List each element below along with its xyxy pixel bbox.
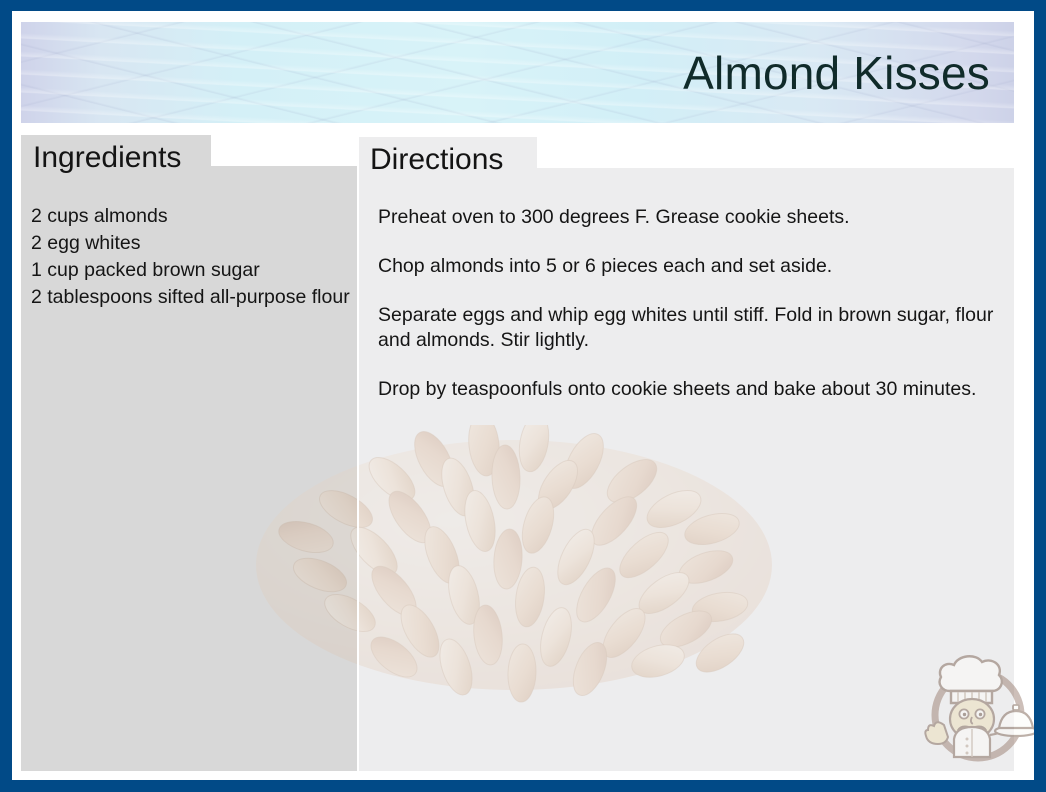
tab-directions[interactable]: Directions (358, 137, 537, 185)
list-item: 1 cup packed brown sugar (31, 257, 351, 284)
slide-content-area: Almond Kisses (12, 11, 1034, 780)
list-item: 2 egg whites (31, 230, 351, 257)
recipe-slide: Almond Kisses (0, 0, 1046, 792)
panel-divider (357, 135, 359, 775)
direction-step: Chop almonds into 5 or 6 pieces each and… (378, 254, 1026, 279)
ingredients-list: 2 cups almonds 2 egg whites 1 cup packed… (31, 203, 351, 311)
title-banner: Almond Kisses (21, 22, 1014, 123)
list-item: 2 cups almonds (31, 203, 351, 230)
chef-logo-icon (920, 647, 1034, 769)
direction-step: Preheat oven to 300 degrees F. Grease co… (378, 205, 1026, 230)
direction-step: Drop by teaspoonfuls onto cookie sheets … (378, 377, 1026, 402)
tab-ingredients[interactable]: Ingredients (21, 135, 211, 183)
page-title: Almond Kisses (683, 46, 990, 100)
list-item: 2 tablespoons sifted all-purpose flour (31, 284, 351, 311)
direction-step: Separate eggs and whip egg whites until … (378, 303, 1026, 353)
directions-steps: Preheat oven to 300 degrees F. Grease co… (378, 205, 1026, 426)
